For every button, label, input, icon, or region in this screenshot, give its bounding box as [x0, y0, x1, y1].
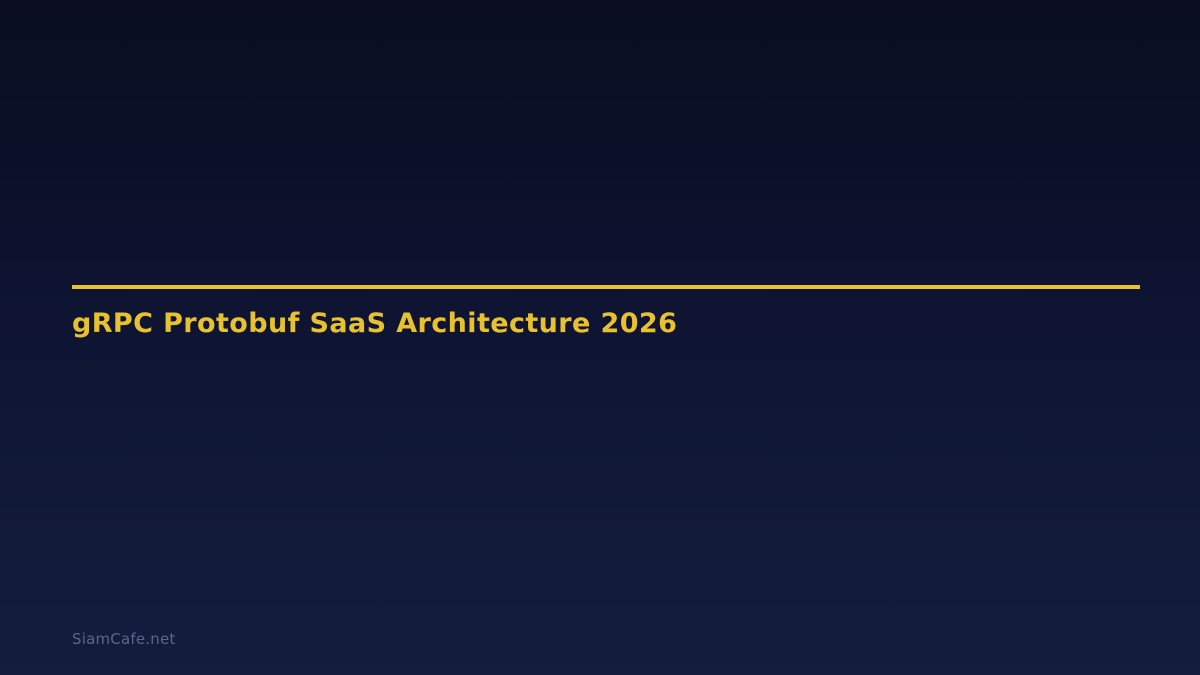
footer-brand-label: SiamCafe.net	[72, 630, 175, 648]
page-title: gRPC Protobuf SaaS Architecture 2026	[72, 289, 1140, 340]
title-slide: gRPC Protobuf SaaS Architecture 2026 Sia…	[0, 0, 1200, 675]
title-block: gRPC Protobuf SaaS Architecture 2026	[72, 285, 1140, 340]
